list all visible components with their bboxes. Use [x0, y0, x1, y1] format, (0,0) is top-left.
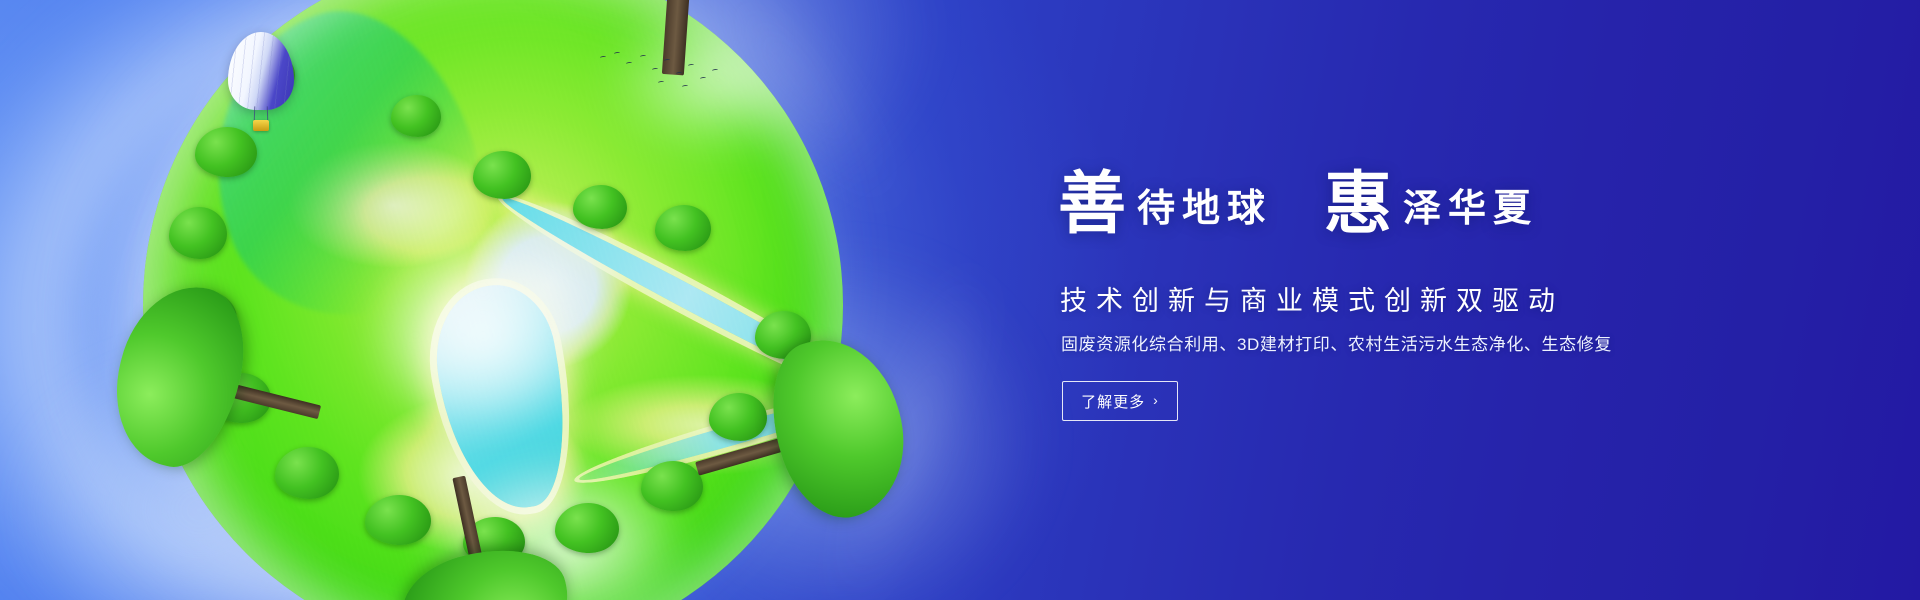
hero-text-block: 善待地球惠泽华夏 技术创新与商业模式创新双驱动 固废资源化综合利用、3D建材打印…: [1055, 0, 1875, 600]
hero-banner: 善待地球惠泽华夏 技术创新与商业模式创新双驱动 固废资源化综合利用、3D建材打印…: [0, 0, 1920, 600]
headline-part2-small: 泽华夏: [1403, 185, 1538, 230]
hero-subtitle: 技术创新与商业模式创新双驱动: [1060, 279, 1564, 318]
page-title: 善待地球惠泽华夏: [1058, 148, 1538, 247]
hero-description: 固废资源化综合利用、3D建材打印、农村生活污水生态净化、生态修复: [1061, 330, 1612, 355]
chevron-right-icon: ›: [1153, 392, 1159, 408]
learn-more-button[interactable]: 了解更多 ›: [1062, 381, 1178, 421]
learn-more-label: 了解更多: [1081, 391, 1145, 412]
headline-part2-big: 惠: [1324, 164, 1393, 244]
headline-part1-big: 善: [1058, 164, 1127, 244]
hot-air-balloon-icon: [228, 32, 294, 136]
headline-part1-small: 待地球: [1137, 185, 1272, 230]
birds-icon: [596, 50, 726, 96]
